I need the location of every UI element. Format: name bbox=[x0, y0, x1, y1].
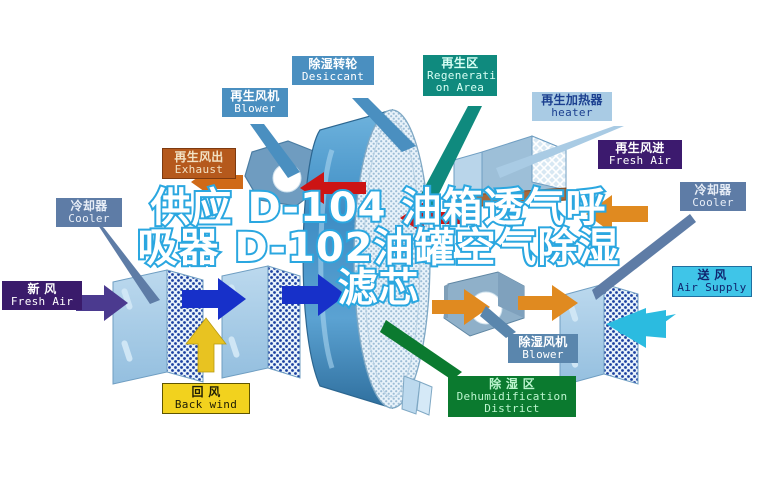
product-title-overlay: 供应 D-104 油箱透气呼 吸器 D-102油罐空气除湿 滤芯 bbox=[0, 188, 757, 308]
label-en: Regenerati on Area bbox=[427, 70, 493, 94]
label-cn: 除 湿 区 bbox=[452, 378, 572, 391]
label-desiccant-wheel: 除湿转轮 Desiccant bbox=[292, 56, 374, 85]
label-en: Back wind bbox=[167, 399, 245, 411]
label-en: Dehumidification District bbox=[452, 391, 572, 415]
product-title-line-2: 吸器 D-102油罐空气除湿 bbox=[0, 228, 757, 268]
label-en: Blower bbox=[512, 349, 574, 361]
label-en: Blower bbox=[226, 103, 284, 115]
label-en: Fresh Air bbox=[602, 155, 678, 167]
label-cn: 回 风 bbox=[167, 386, 245, 399]
label-dehumidification-district: 除 湿 区 Dehumidification District bbox=[448, 376, 576, 417]
label-cn: 再生风机 bbox=[226, 90, 284, 103]
label-cn: 再生风进 bbox=[602, 142, 678, 155]
label-cn: 除湿风机 bbox=[512, 336, 574, 349]
label-cn: 再生风出 bbox=[167, 151, 231, 164]
label-regeneration-exhaust: 再生风出 Exhaust bbox=[162, 148, 236, 179]
label-dehumidification-blower: 除湿风机 Blower bbox=[508, 334, 578, 363]
product-title-line-3: 滤芯 bbox=[0, 268, 757, 308]
label-back-wind: 回 风 Back wind bbox=[162, 383, 250, 414]
label-en: heater bbox=[536, 107, 608, 119]
label-cn: 再生加热器 bbox=[536, 94, 608, 107]
label-en: Exhaust bbox=[167, 164, 231, 176]
label-regeneration-air-inlet: 再生风进 Fresh Air bbox=[598, 140, 682, 169]
label-cn: 除湿转轮 bbox=[296, 58, 370, 71]
label-regeneration-area: 再生区 Regenerati on Area bbox=[423, 55, 497, 96]
label-cn: 再生区 bbox=[427, 57, 493, 70]
label-regeneration-heater: 再生加热器 heater bbox=[532, 92, 612, 121]
diagram-canvas: xt bbox=[0, 0, 757, 488]
label-en: Desiccant bbox=[296, 71, 370, 83]
label-regeneration-blower: 再生风机 Blower bbox=[222, 88, 288, 117]
product-title-line-1: 供应 D-104 油箱透气呼 bbox=[0, 188, 757, 228]
